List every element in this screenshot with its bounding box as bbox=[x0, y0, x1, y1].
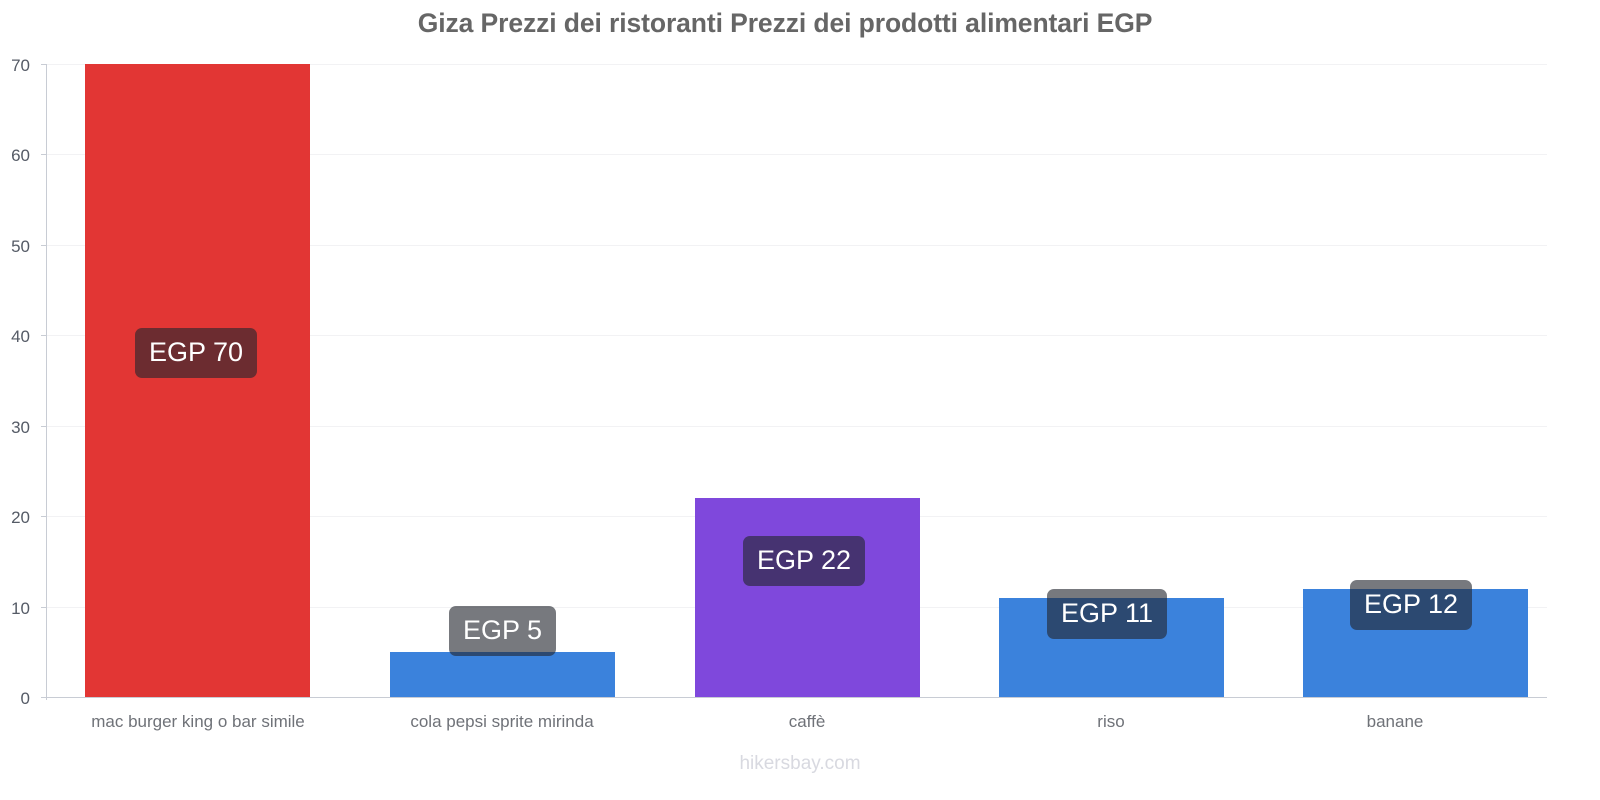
data-label-banane: EGP 12 bbox=[1350, 580, 1472, 630]
category-label-riso: riso bbox=[959, 712, 1263, 732]
chart-page: Giza Prezzi dei ristoranti Prezzi dei pr… bbox=[0, 0, 1600, 800]
y-tick-label: 40 bbox=[11, 328, 30, 345]
x-axis-labels: mac burger king o bar simile cola pepsi … bbox=[46, 712, 1547, 742]
category-label-mac-burger-king-o-bar-simile: mac burger king o bar simile bbox=[46, 712, 350, 732]
bar-mac-burger-king-o-bar-simile[interactable] bbox=[85, 64, 310, 697]
page-title: Giza Prezzi dei ristoranti Prezzi dei pr… bbox=[0, 8, 1570, 39]
data-label-cola-pepsi-sprite-mirinda: EGP 5 bbox=[449, 606, 556, 656]
data-label-riso: EGP 11 bbox=[1047, 589, 1167, 639]
y-tick-mark bbox=[41, 697, 47, 698]
data-label-mac-burger-king-o-bar-simile: EGP 70 bbox=[135, 328, 257, 378]
y-axis-labels: 70 60 50 40 30 20 10 0 bbox=[0, 0, 40, 800]
y-tick-label: 70 bbox=[11, 57, 30, 74]
watermark: hikersbay.com bbox=[0, 753, 1600, 775]
category-label-caffe: caffè bbox=[655, 712, 959, 732]
category-label-cola-pepsi-sprite-mirinda: cola pepsi sprite mirinda bbox=[350, 712, 654, 732]
y-tick-label: 0 bbox=[21, 690, 30, 707]
bar-series: EGP 70 EGP 5 EGP 22 EGP 11 EGP 12 bbox=[46, 64, 1547, 697]
y-tick-label: 50 bbox=[11, 238, 30, 255]
bar-caffe[interactable] bbox=[695, 498, 920, 697]
y-tick-label: 20 bbox=[11, 509, 30, 526]
data-label-caffe: EGP 22 bbox=[743, 536, 865, 586]
bar-cola-pepsi-sprite-mirinda[interactable] bbox=[390, 652, 615, 697]
y-tick-label: 30 bbox=[11, 419, 30, 436]
y-tick-label: 60 bbox=[11, 147, 30, 164]
x-axis-line bbox=[46, 697, 1547, 698]
category-label-banane: banane bbox=[1243, 712, 1547, 732]
y-tick-label: 10 bbox=[11, 600, 30, 617]
